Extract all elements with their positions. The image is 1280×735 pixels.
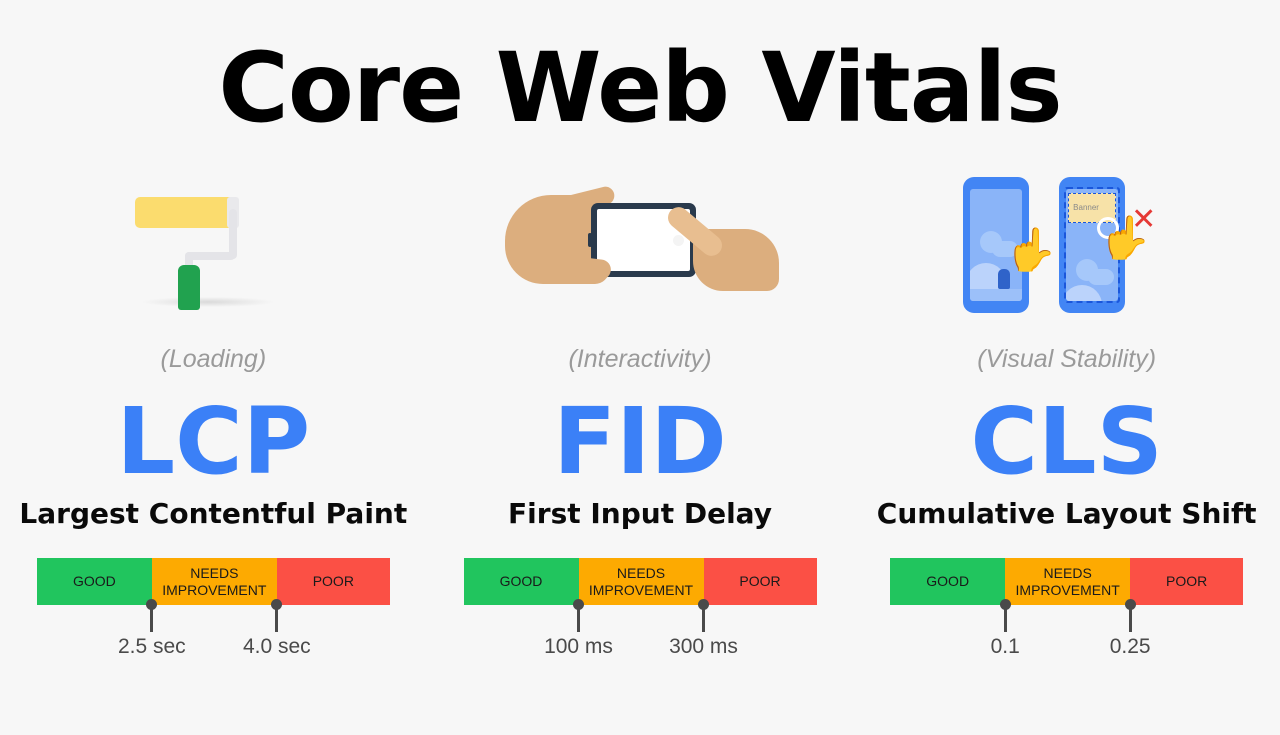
scale-segment-needs-line1: NEEDS bbox=[1044, 565, 1092, 581]
metric-sublabel-lcp: (Loading) bbox=[161, 347, 267, 372]
core-web-vitals-infographic: Core Web Vitals (Loading) LCP Largest Co… bbox=[0, 0, 1280, 735]
page-title: Core Web Vitals bbox=[0, 36, 1280, 142]
scale-segment-poor: POOR bbox=[277, 558, 390, 605]
pointing-hand-icon: 👆 bbox=[1005, 229, 1057, 271]
metric-column-cls: Banner 👆 👆 ✕ (Visual Stability) CLS Cumu… bbox=[853, 170, 1280, 730]
scale-segment-needs-improvement: NEEDSIMPROVEMENT bbox=[579, 558, 704, 605]
threshold-value-good-max-cls: 0.1 bbox=[991, 636, 1020, 657]
banner-label: Banner bbox=[1073, 203, 1099, 212]
layout-shift-phones-icon: Banner 👆 👆 ✕ bbox=[917, 170, 1217, 325]
marker-stem bbox=[577, 605, 580, 632]
scale-segment-needs-line2: IMPROVEMENT bbox=[162, 582, 266, 598]
tap-highlight bbox=[673, 235, 684, 246]
scale-segment-poor: POOR bbox=[704, 558, 817, 605]
scale-bar-cls: GOOD NEEDSIMPROVEMENT POOR 0.1 0.25 bbox=[890, 558, 1243, 668]
scale-segment-needs-improvement: NEEDSIMPROVEMENT bbox=[1005, 558, 1130, 605]
metric-sublabel-fid: (Interactivity) bbox=[568, 347, 711, 372]
error-cross-icon: ✕ bbox=[1131, 205, 1156, 235]
scale-segment-needs-line2: IMPROVEMENT bbox=[589, 582, 693, 598]
marker-stem bbox=[150, 605, 153, 632]
scale-segment-good: GOOD bbox=[37, 558, 152, 605]
scale-segment-needs-line1: NEEDS bbox=[617, 565, 665, 581]
metric-sublabel-cls: (Visual Stability) bbox=[977, 347, 1156, 372]
scale-segment-needs-line2: IMPROVEMENT bbox=[1016, 582, 1120, 598]
threshold-value-good-max-lcp: 2.5 sec bbox=[118, 636, 186, 657]
scale-bar-lcp: GOOD NEEDSIMPROVEMENT POOR 2.5 sec 4.0 s… bbox=[37, 558, 390, 668]
scale-segment-needs-improvement: NEEDSIMPROVEMENT bbox=[152, 558, 277, 605]
metric-acronym-lcp: LCP bbox=[117, 396, 311, 488]
metric-acronym-cls: CLS bbox=[970, 396, 1162, 488]
marker-stem bbox=[1004, 605, 1007, 632]
metric-name-lcp: Largest Contentful Paint bbox=[19, 500, 407, 528]
roller-grip bbox=[178, 265, 200, 310]
marker-stem bbox=[702, 605, 705, 632]
metric-column-lcp: (Loading) LCP Largest Contentful Paint G… bbox=[0, 170, 427, 730]
marker-stem bbox=[1129, 605, 1132, 632]
threshold-value-needs-max-fid: 300 ms bbox=[669, 636, 738, 657]
threshold-value-good-max-fid: 100 ms bbox=[544, 636, 613, 657]
metric-column-fid: (Interactivity) FID First Input Delay GO… bbox=[427, 170, 854, 730]
scale-bar-fid: GOOD NEEDSIMPROVEMENT POOR 100 ms 300 ms bbox=[464, 558, 817, 668]
phone-side-button bbox=[588, 233, 592, 247]
marker-stem bbox=[275, 605, 278, 632]
scale-segment-good: GOOD bbox=[890, 558, 1005, 605]
metrics-columns: (Loading) LCP Largest Contentful Paint G… bbox=[0, 170, 1280, 730]
roller-head bbox=[135, 197, 235, 228]
scale-segment-good: GOOD bbox=[464, 558, 579, 605]
threshold-value-needs-max-lcp: 4.0 sec bbox=[243, 636, 311, 657]
hand-tapping-phone-icon bbox=[490, 170, 790, 325]
roller-shadow bbox=[143, 297, 273, 307]
metric-name-cls: Cumulative Layout Shift bbox=[877, 500, 1257, 528]
scale-segment-poor: POOR bbox=[1130, 558, 1243, 605]
metric-acronym-fid: FID bbox=[553, 396, 726, 488]
paint-roller-icon bbox=[63, 170, 363, 325]
threshold-value-needs-max-cls: 0.25 bbox=[1110, 636, 1151, 657]
scale-segment-needs-line1: NEEDS bbox=[190, 565, 238, 581]
metric-name-fid: First Input Delay bbox=[508, 500, 772, 528]
illustration-ground bbox=[970, 289, 1022, 301]
